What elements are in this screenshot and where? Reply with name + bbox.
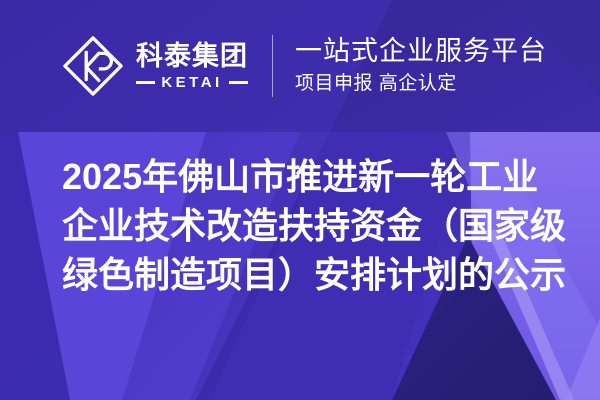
tagline-sub: 项目申报 高企认定 — [295, 72, 547, 97]
article-cover-banner: 科泰集团 KETAI 一站式企业服务平台 项目申报 高企认定 2025年佛山市推… — [0, 0, 600, 400]
ketai-monogram-icon — [62, 35, 124, 97]
logo-company-name-cn: 科泰集团 — [136, 42, 248, 71]
tagline-main: 一站式企业服务平台 — [295, 36, 547, 68]
header-tagline: 一站式企业服务平台 项目申报 高企认定 — [295, 36, 547, 97]
logo-dash-right — [229, 81, 248, 84]
header-divider — [272, 35, 273, 97]
page-title: 2025年佛山市推进新一轮工业企业技术改造扶持资金（国家级绿色制造项目）安排计划… — [62, 152, 574, 299]
logo-company-name-en: KETAI — [155, 75, 228, 90]
logo-wordmark: 科泰集团 KETAI — [136, 42, 248, 89]
company-logo[interactable]: 科泰集团 KETAI — [62, 35, 248, 97]
banner-header: 科泰集团 KETAI 一站式企业服务平台 项目申报 高企认定 — [0, 0, 600, 132]
logo-en-row: KETAI — [136, 75, 248, 90]
logo-dash-left — [136, 81, 155, 84]
